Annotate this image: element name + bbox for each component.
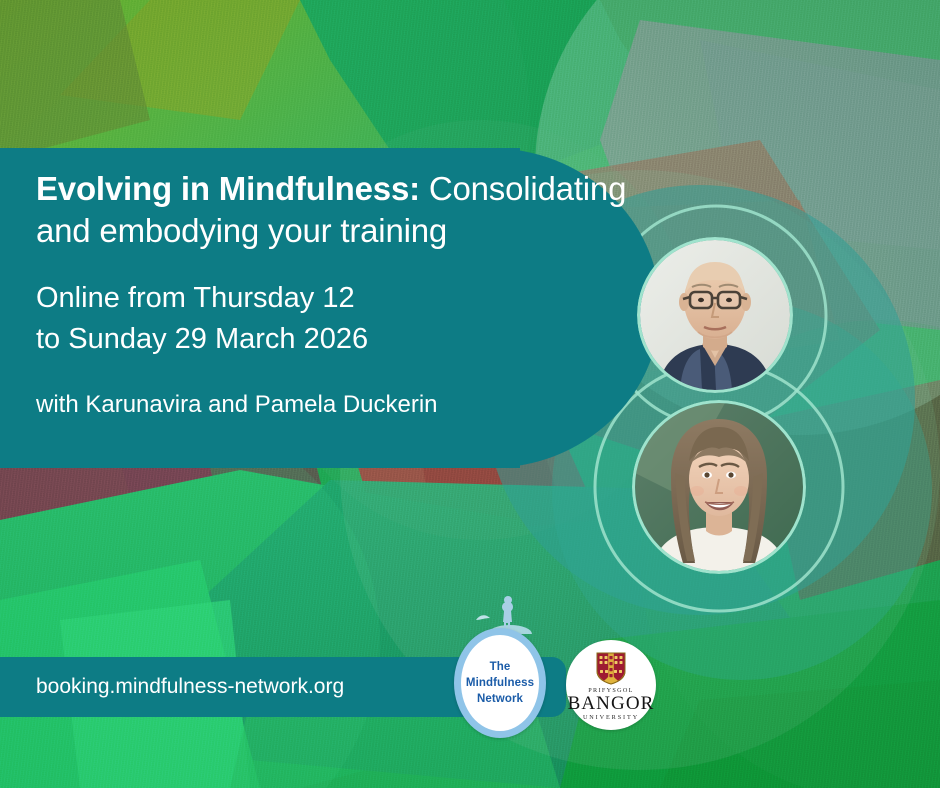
portrait-pamela-ring	[632, 400, 806, 574]
mn-line-1: The	[490, 659, 511, 675]
bangor-name: BANGOR	[568, 694, 655, 714]
headline-bold: Evolving in Mindfulness:	[36, 170, 420, 207]
presenters-line: with Karunavira and Pamela Duckerin	[36, 389, 676, 420]
portrait-karunavira-ring	[637, 237, 793, 393]
headline-line2: and embodying your training	[36, 212, 447, 249]
poster-copy: Evolving in Mindfulness: Consolidating a…	[36, 168, 676, 420]
bangor-crest-icon	[596, 652, 626, 685]
logo-bangor-university[interactable]: PRIFYSGOL BANGOR UNIVERSITY	[566, 640, 656, 730]
mindfulness-network-label: The Mindfulness Network	[454, 628, 546, 738]
mn-line-3: Network	[477, 691, 523, 707]
logo-mindfulness-network[interactable]: The Mindfulness Network	[454, 628, 546, 738]
portrait-karunavira	[637, 237, 793, 393]
event-dates: Online from Thursday 12 to Sunday 29 Mar…	[36, 278, 676, 359]
headline-rest: Consolidating	[420, 170, 626, 207]
booking-url-text[interactable]: booking.mindfulness-network.org	[36, 657, 344, 717]
event-dates-line2: to Sunday 29 March 2026	[36, 323, 368, 355]
portrait-pamela	[632, 400, 806, 574]
event-dates-line1: Online from Thursday 12	[36, 282, 355, 314]
poster-canvas: Evolving in Mindfulness: Consolidating a…	[0, 0, 940, 788]
bangor-university-word: UNIVERSITY	[583, 714, 639, 721]
mn-line-2: Mindfulness	[466, 675, 534, 691]
page-title: Evolving in Mindfulness: Consolidating a…	[36, 168, 676, 252]
